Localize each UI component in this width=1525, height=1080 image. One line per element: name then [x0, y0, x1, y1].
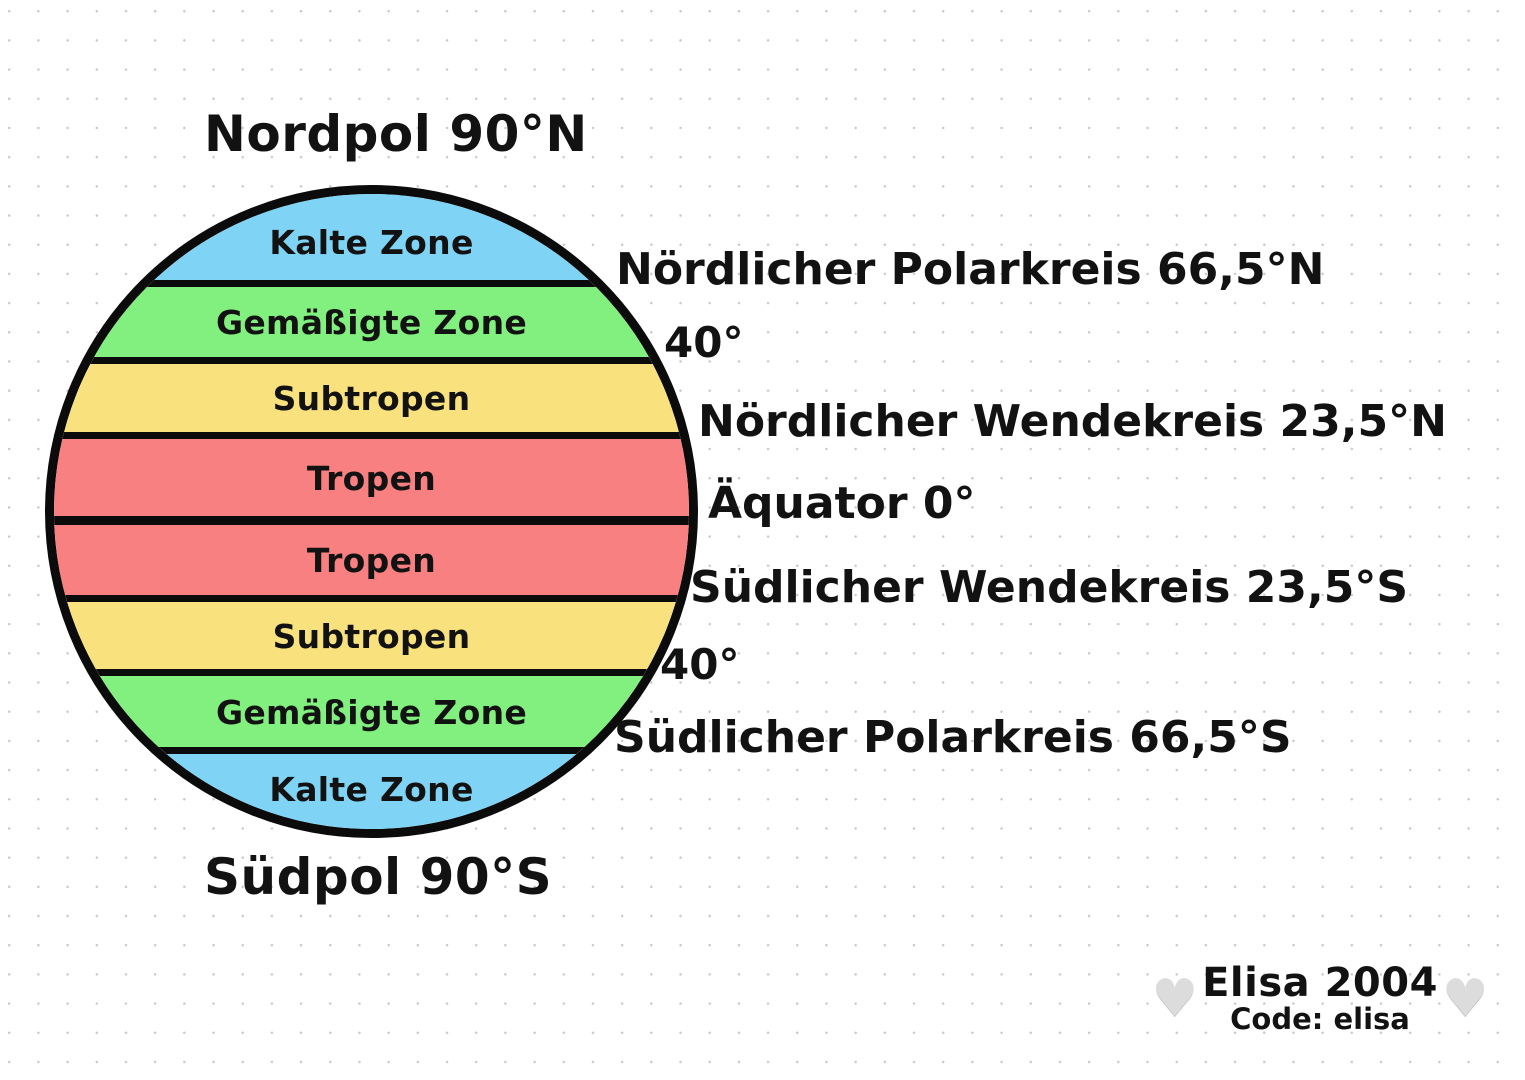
annotation-north-polar-circle: Nördlicher Polarkreis 66,5°N — [616, 244, 1324, 295]
signature-author: Elisa 2004 — [1202, 960, 1438, 1006]
heart-icon-left: ♥ — [1151, 973, 1198, 1025]
zone-label-gemaessigte-zone-south: Gemäßigte Zone — [216, 693, 527, 732]
latitude-line-north-tropic — [45, 432, 698, 439]
south-pole-label: Südpol 90°S — [204, 848, 552, 906]
north-pole-label: Nordpol 90°N — [204, 105, 588, 163]
annotation-south-tropic: Südlicher Wendekreis 23,5°S — [690, 562, 1408, 613]
latitude-line-south-tropic — [45, 595, 698, 602]
zone-label-subtropen-north: Subtropen — [273, 379, 471, 418]
zone-band-tropen-south: Tropen — [45, 521, 698, 599]
zone-band-subtropen-north: Subtropen — [45, 361, 698, 436]
zone-label-gemaessigte-zone-north: Gemäßigte Zone — [216, 303, 527, 342]
diagram-canvas: Nordpol 90°N Kalte Zone Gemäßigte Zone S… — [0, 0, 1525, 1080]
annotation-south-polar-circle: Südlicher Polarkreis 66,5°S — [614, 712, 1292, 763]
signature-code: Code: elisa — [1230, 1002, 1410, 1036]
signature-block: ♥ Elisa 2004 Code: elisa ♥ — [1140, 962, 1500, 1036]
latitude-line-equator — [45, 516, 698, 525]
annotation-equator: Äquator 0° — [708, 478, 975, 529]
latitude-line-south-40 — [45, 669, 698, 676]
zone-label-subtropen-south: Subtropen — [273, 617, 471, 656]
annotation-north-tropic: Nördlicher Wendekreis 23,5°N — [698, 396, 1447, 447]
latitude-line-south-polar-circle — [45, 747, 698, 754]
latitude-line-north-40 — [45, 357, 698, 364]
zone-band-gemaessigte-zone-south: Gemäßigte Zone — [45, 673, 698, 751]
heart-icon-right: ♥ — [1442, 973, 1489, 1025]
annotation-north-40-degrees: 40° — [664, 318, 743, 367]
latitude-line-north-polar-circle — [45, 280, 698, 287]
zone-band-kalte-zone-north: Kalte Zone — [45, 185, 698, 284]
zone-band-kalte-zone-south: Kalte Zone — [45, 751, 698, 838]
zone-label-tropen-north: Tropen — [307, 459, 436, 498]
zone-label-tropen-south: Tropen — [307, 541, 436, 580]
annotation-south-40-degrees: 40° — [660, 640, 739, 689]
globe-climate-zones: Kalte Zone Gemäßigte Zone Subtropen Trop… — [45, 185, 698, 838]
zone-label-kalte-zone-south: Kalte Zone — [269, 770, 473, 809]
signature-text: Elisa 2004 Code: elisa — [1202, 962, 1438, 1036]
zone-label-kalte-zone-north: Kalte Zone — [269, 223, 473, 262]
zone-band-subtropen-south: Subtropen — [45, 599, 698, 673]
zone-band-tropen-north: Tropen — [45, 436, 698, 521]
zone-band-gemaessigte-zone-north: Gemäßigte Zone — [45, 284, 698, 361]
